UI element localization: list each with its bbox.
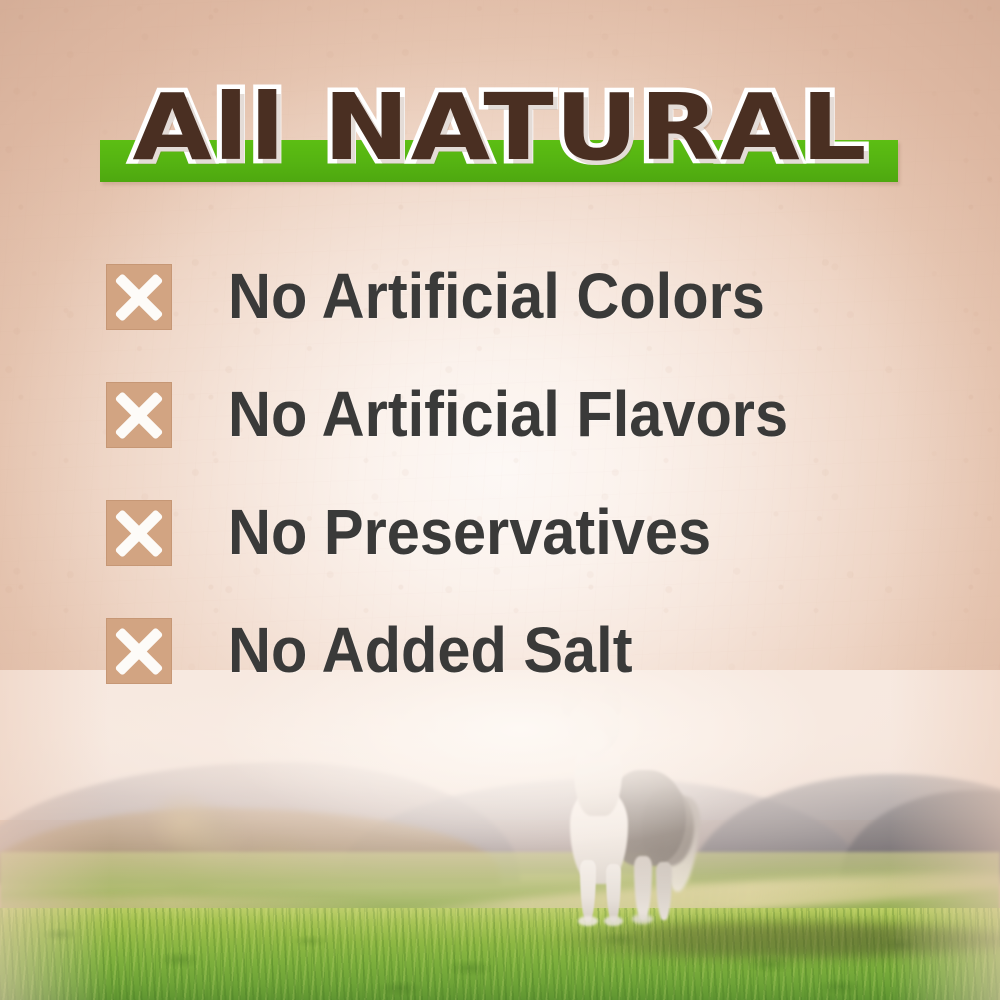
dog-front-leg-left (580, 860, 596, 922)
header-banner: All NATURAL (0, 78, 1000, 190)
list-item: No Artificial Flavors (106, 376, 926, 494)
list-item: No Preservatives (106, 494, 926, 612)
ground-shadow (540, 922, 1000, 958)
x-mark-icon (106, 264, 172, 330)
page-title: All NATURAL (0, 78, 1000, 178)
x-mark-icon (106, 500, 172, 566)
feature-label: No Added Salt (228, 604, 633, 696)
dog-paw-a (578, 916, 598, 926)
feature-list: No Artificial Colors No Artificial Flavo… (106, 258, 926, 730)
dog-muzzle (578, 728, 610, 760)
x-mark-icon (106, 382, 172, 448)
dog-front-leg-right (606, 864, 621, 922)
feature-label: No Preservatives (228, 486, 711, 578)
list-item: No Added Salt (106, 612, 926, 730)
x-mark-icon (106, 618, 172, 684)
dog-paw-b (604, 916, 623, 926)
feature-label: No Artificial Colors (228, 250, 765, 342)
dog-paw-c (632, 914, 653, 924)
dog-hind-leg-right (656, 862, 672, 920)
feature-label: No Artificial Flavors (228, 368, 788, 460)
list-item: No Artificial Colors (106, 258, 926, 376)
dog-hind-leg-left (634, 856, 652, 920)
product-feature-poster: All NATURAL No Artificial Colors No Arti… (0, 0, 1000, 1000)
